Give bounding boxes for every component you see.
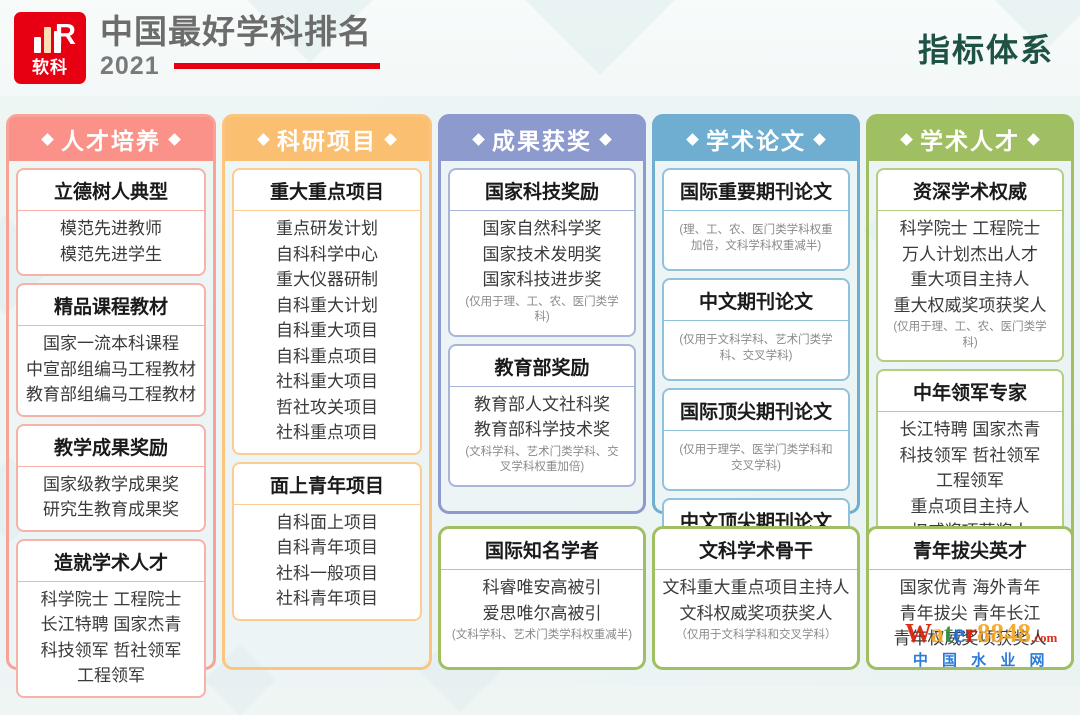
indicator-card-international-scholars[interactable]: 国际知名学者科睿唯安高被引爱思唯尔高被引(文科学科、艺术门类学科权重减半) xyxy=(438,526,646,670)
indicator-item: 重大项目主持人 xyxy=(882,267,1058,293)
indicator-item: 科学院士 工程院士 xyxy=(22,587,200,613)
indicator-item: 文科权威奖项获奖人 xyxy=(659,601,853,627)
indicator-item: 国家级教学成果奖 xyxy=(22,472,200,498)
diamond-icon xyxy=(813,133,826,146)
indicator-item-list: (理、工、农、医门类学科权重加倍，文科学科权重减半) xyxy=(664,211,848,269)
indicator-item-list: 文科重大重点项目主持人文科权威奖项获奖人（仅用于文科学科和交叉学科） xyxy=(655,570,857,653)
indicator-item: 中宣部组编马工程教材 xyxy=(22,357,200,383)
indicator-item: 社科重点项目 xyxy=(238,420,416,446)
indicator-card[interactable]: 文科学术骨干文科重大重点项目主持人文科权威奖项获奖人（仅用于文科学科和交叉学科） xyxy=(655,529,857,653)
indicator-item: 自科科学中心 xyxy=(238,242,416,268)
indicator-item: 自科面上项目 xyxy=(238,510,416,536)
indicator-card-title: 国家科技奖励 xyxy=(450,170,634,211)
indicator-item: 重点项目主持人 xyxy=(882,494,1058,520)
ruanke-logo-icon: R 软科 xyxy=(14,12,86,84)
indicator-item-list: 科学院士 工程院士长江特聘 国家杰青科技领军 哲社领军工程领军 xyxy=(18,582,204,696)
indicator-card[interactable]: 面上青年项目自科面上项目自科青年项目社科一般项目社科青年项目 xyxy=(232,462,422,621)
indicator-card-title: 国际知名学者 xyxy=(441,529,643,570)
indicator-card[interactable]: 教育部奖励教育部人文社科奖教育部科学技术奖(文科学科、艺术门类学科、交叉学科权重… xyxy=(448,344,636,487)
indicator-card[interactable]: 重大重点项目重点研发计划自科科学中心重大仪器研制自科重大计划自科重大项目自科重点… xyxy=(232,168,422,455)
page-title: 指标体系 xyxy=(918,25,1054,71)
diamond-icon xyxy=(41,133,54,146)
indicator-card[interactable]: 中文期刊论文(仅用于文科学科、艺术门类学科、交叉学科) xyxy=(662,278,850,381)
indicator-card-title: 教学成果奖励 xyxy=(18,426,204,467)
indicator-card[interactable]: 国际知名学者科睿唯安高被引爱思唯尔高被引(文科学科、艺术门类学科权重减半) xyxy=(441,529,643,653)
column-header-academic-talent: 学术人才 xyxy=(869,117,1071,161)
indicator-card-title: 教育部奖励 xyxy=(450,346,634,387)
indicator-item: 社科青年项目 xyxy=(238,586,416,612)
diamond-icon xyxy=(686,133,699,146)
indicator-item: 科学院士 工程院士 xyxy=(882,216,1058,242)
indicator-card-title: 国际重要期刊论文 xyxy=(664,170,848,211)
indicator-item: 自科重大项目 xyxy=(238,318,416,344)
indicator-item: 国家优青 海外青年 xyxy=(873,575,1067,601)
indicator-item-list: (仅用于理学、医学门类学科和交叉学科) xyxy=(664,431,848,489)
column-title: 科研项目 xyxy=(277,122,377,156)
indicator-note: (仅用于理、工、农、医门类学科) xyxy=(454,293,630,328)
indicator-card-title: 文科学术骨干 xyxy=(655,529,857,570)
indicator-card-title: 精品课程教材 xyxy=(18,285,204,326)
indicator-item: 国家一流本科课程 xyxy=(22,331,200,357)
indicator-item-list: 国家级教学成果奖研究生教育成果奖 xyxy=(18,467,204,530)
indicator-item: 自科青年项目 xyxy=(238,535,416,561)
indicator-card-title: 立德树人典型 xyxy=(18,170,204,211)
indicator-card-title: 中年领军专家 xyxy=(878,371,1062,412)
indicator-note: （仅用于文科学科和交叉学科） xyxy=(659,626,853,646)
indicator-item: 工程领军 xyxy=(882,468,1058,494)
indicator-card-title: 面上青年项目 xyxy=(234,464,420,505)
indicator-item-list: 国家一流本科课程中宣部组编马工程教材教育部组编马工程教材 xyxy=(18,326,204,415)
logo-letter: R xyxy=(55,21,76,50)
indicator-card[interactable]: 资深学术权威科学院士 工程院士万人计划杰出人才重大项目主持人重大权威奖项获奖人(… xyxy=(876,168,1064,362)
indicator-item: 国家自然科学奖 xyxy=(454,216,630,242)
column-header-achievement-awards: 成果获奖 xyxy=(441,117,643,161)
column-body: 重大重点项目重点研发计划自科科学中心重大仪器研制自科重大计划自科重大项目自科重点… xyxy=(225,161,429,628)
indicator-item-list: 科睿唯安高被引爱思唯尔高被引(文科学科、艺术门类学科权重减半) xyxy=(441,570,643,653)
indicator-item-list: 国家自然科学奖国家技术发明奖国家科技进步奖(仅用于理、工、农、医门类学科) xyxy=(450,211,634,335)
indicator-card-title: 中文期刊论文 xyxy=(664,280,848,321)
indicator-item: 自科重点项目 xyxy=(238,344,416,370)
indicator-item: 研究生教育成果奖 xyxy=(22,497,200,523)
indicator-card-title: 重大重点项目 xyxy=(234,170,420,211)
indicator-card[interactable]: 造就学术人才科学院士 工程院士长江特聘 国家杰青科技领军 哲社领军工程领军 xyxy=(16,539,206,698)
diamond-icon xyxy=(168,133,181,146)
indicator-card-title: 国际顶尖期刊论文 xyxy=(664,390,848,431)
indicator-item-list: 模范先进教师模范先进学生 xyxy=(18,211,204,274)
column-body: 立德树人典型模范先进教师模范先进学生精品课程教材国家一流本科课程中宣部组编马工程… xyxy=(9,161,213,705)
indicator-item: 国家科技进步奖 xyxy=(454,267,630,293)
indicator-note: (仅用于理学、医学门类学科和交叉学科) xyxy=(668,436,844,482)
brand-title-block: 中国最好学科排名 2021 xyxy=(100,15,380,81)
indicator-item: 重大权威奖项获奖人 xyxy=(882,293,1058,319)
column-body: 资深学术权威科学院士 工程院士万人计划杰出人才重大项目主持人重大权威奖项获奖人(… xyxy=(869,161,1071,561)
indicator-item: 社科一般项目 xyxy=(238,561,416,587)
column-title: 学术论文 xyxy=(706,122,806,156)
indicator-card-title: 青年拔尖英才 xyxy=(869,529,1071,570)
indicator-item: 自科重大计划 xyxy=(238,293,416,319)
indicator-item: 模范先进教师 xyxy=(22,216,200,242)
indicator-item-list: 科学院士 工程院士万人计划杰出人才重大项目主持人重大权威奖项获奖人(仅用于理、工… xyxy=(878,211,1062,360)
page-header: R 软科 中国最好学科排名 2021 指标体系 xyxy=(0,0,1080,96)
indicator-item: 重大仪器研制 xyxy=(238,267,416,293)
diamond-icon xyxy=(900,133,913,146)
indicator-item: 爱思唯尔高被引 xyxy=(445,601,639,627)
indicator-item-list: 教育部人文社科奖教育部科学技术奖(文科学科、艺术门类学科、交叉学科权重加倍) xyxy=(450,387,634,485)
brand-year: 2021 xyxy=(100,52,160,81)
indicator-column-achievement-awards: 成果获奖国家科技奖励国家自然科学奖国家技术发明奖国家科技进步奖(仅用于理、工、农… xyxy=(438,114,646,514)
indicator-card[interactable]: 立德树人典型模范先进教师模范先进学生 xyxy=(16,168,206,276)
indicator-card[interactable]: 国际顶尖期刊论文(仅用于理学、医学门类学科和交叉学科) xyxy=(662,388,850,491)
brand-title: 中国最好学科排名 xyxy=(100,15,380,50)
indicator-card[interactable]: 国家科技奖励国家自然科学奖国家技术发明奖国家科技进步奖(仅用于理、工、农、医门类… xyxy=(448,168,636,337)
column-header-talent-cultivation: 人才培养 xyxy=(9,117,213,161)
indicator-note: (仅用于理、工、农、医门类学科) xyxy=(882,318,1058,353)
indicator-item: 教育部科学技术奖 xyxy=(454,417,630,443)
indicator-item: 长江特聘 国家杰青 xyxy=(22,612,200,638)
indicator-card[interactable]: 国际重要期刊论文(理、工、农、医门类学科权重加倍，文科学科权重减半) xyxy=(662,168,850,271)
indicator-item: 万人计划杰出人才 xyxy=(882,242,1058,268)
indicator-item-list: 重点研发计划自科科学中心重大仪器研制自科重大计划自科重大项目自科重点项目社科重大… xyxy=(234,211,420,453)
column-title: 人才培养 xyxy=(61,122,161,156)
indicator-card[interactable]: 青年拔尖英才国家优青 海外青年青年拔尖 青年长江青年权威奖项获奖人 xyxy=(869,529,1071,659)
indicator-item: 社科重大项目 xyxy=(238,369,416,395)
indicator-card-title: 资深学术权威 xyxy=(878,170,1062,211)
indicator-note: (仅用于文科学科、艺术门类学科、交叉学科) xyxy=(668,326,844,372)
indicator-card-title: 造就学术人才 xyxy=(18,541,204,582)
indicator-item: 科技领军 哲社领军 xyxy=(22,638,200,664)
indicator-item: 哲社攻关项目 xyxy=(238,395,416,421)
indicator-note: (文科学科、艺术门类学科、交叉学科权重加倍) xyxy=(454,443,630,478)
indicator-item: 青年权威奖项获奖人 xyxy=(873,626,1067,652)
column-header-academic-papers: 学术论文 xyxy=(655,117,857,161)
indicator-board: 人才培养立德树人典型模范先进教师模范先进学生精品课程教材国家一流本科课程中宣部组… xyxy=(0,96,1080,686)
indicator-item: 科技领军 哲社领军 xyxy=(882,443,1058,469)
indicator-card-liberal-arts-backbone[interactable]: 文科学术骨干文科重大重点项目主持人文科权威奖项获奖人（仅用于文科学科和交叉学科） xyxy=(652,526,860,670)
indicator-item: 重点研发计划 xyxy=(238,216,416,242)
logo-chinese-name: 软科 xyxy=(14,53,86,78)
indicator-item-list: 国家优青 海外青年青年拔尖 青年长江青年权威奖项获奖人 xyxy=(869,570,1071,659)
indicator-item: 长江特聘 国家杰青 xyxy=(882,417,1058,443)
indicator-item: 文科重大重点项目主持人 xyxy=(659,575,853,601)
column-body: 国家科技奖励国家自然科学奖国家技术发明奖国家科技进步奖(仅用于理、工、农、医门类… xyxy=(441,161,643,494)
indicator-card-young-talent[interactable]: 青年拔尖英才国家优青 海外青年青年拔尖 青年长江青年权威奖项获奖人 xyxy=(866,526,1074,670)
indicator-item-list: 自科面上项目自科青年项目社科一般项目社科青年项目 xyxy=(234,505,420,619)
indicator-column-academic-papers: 学术论文国际重要期刊论文(理、工、农、医门类学科权重加倍，文科学科权重减半)中文… xyxy=(652,114,860,514)
diamond-icon xyxy=(472,133,485,146)
indicator-item-list: (仅用于文科学科、艺术门类学科、交叉学科) xyxy=(664,321,848,379)
indicator-item: 工程领军 xyxy=(22,663,200,689)
diamond-icon xyxy=(384,133,397,146)
indicator-note: (理、工、农、医门类学科权重加倍，文科学科权重减半) xyxy=(668,216,844,262)
column-title: 学术人才 xyxy=(920,122,1020,156)
diamond-icon xyxy=(1027,133,1040,146)
column-title: 成果获奖 xyxy=(492,122,592,156)
diamond-icon xyxy=(599,133,612,146)
brand-logo: R 软科 中国最好学科排名 2021 xyxy=(14,12,380,84)
indicator-column-talent-cultivation: 人才培养立德树人典型模范先进教师模范先进学生精品课程教材国家一流本科课程中宣部组… xyxy=(6,114,216,670)
indicator-item: 模范先进学生 xyxy=(22,242,200,268)
indicator-note: (文科学科、艺术门类学科权重减半) xyxy=(445,626,639,646)
indicator-card[interactable]: 教学成果奖励国家级教学成果奖研究生教育成果奖 xyxy=(16,424,206,532)
indicator-item: 教育部组编马工程教材 xyxy=(22,382,200,408)
indicator-card[interactable]: 精品课程教材国家一流本科课程中宣部组编马工程教材教育部组编马工程教材 xyxy=(16,283,206,417)
column-header-research-projects: 科研项目 xyxy=(225,117,429,161)
indicator-column-research-projects: 科研项目重大重点项目重点研发计划自科科学中心重大仪器研制自科重大计划自科重大项目… xyxy=(222,114,432,670)
title-underline xyxy=(174,63,380,69)
indicator-item: 青年拔尖 青年长江 xyxy=(873,601,1067,627)
diamond-icon xyxy=(257,133,270,146)
indicator-item: 科睿唯安高被引 xyxy=(445,575,639,601)
indicator-item: 国家技术发明奖 xyxy=(454,242,630,268)
indicator-item: 教育部人文社科奖 xyxy=(454,392,630,418)
